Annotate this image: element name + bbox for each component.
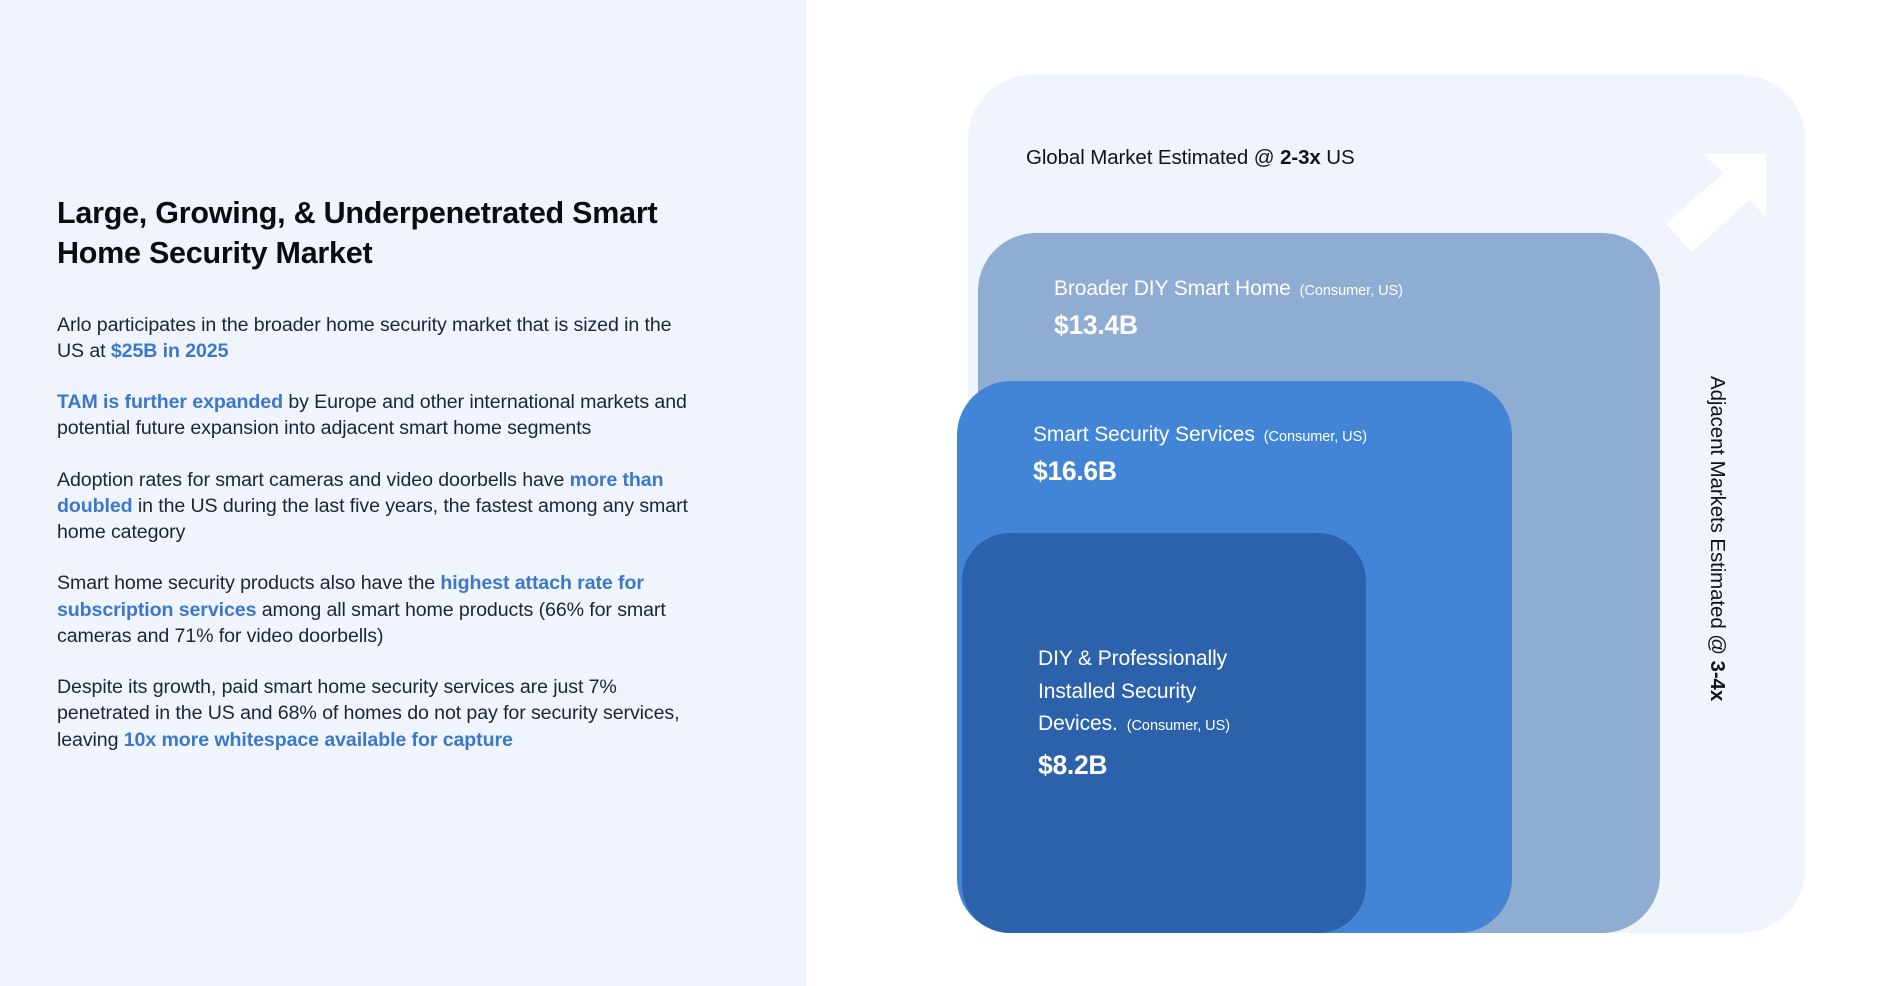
highlight-market-size-1: $25B in 2025 bbox=[111, 340, 229, 362]
tier-broader-name: Broader DIY Smart Home bbox=[1054, 277, 1291, 300]
tier-devices-name-line-3: Devices. bbox=[1038, 712, 1118, 735]
highlight-whitespace-1: 10x more whitespace available for captur… bbox=[124, 729, 513, 751]
tier-broader-text-block: Broader DIY Smart Home(Consumer, US) $13… bbox=[1054, 277, 1403, 341]
global-market-suffix: US bbox=[1321, 146, 1355, 169]
tier-services-value: $16.6B bbox=[1033, 456, 1367, 487]
text-adoption-rates-0: Adoption rates for smart cameras and vid… bbox=[57, 469, 570, 491]
tier-devices-name-line-2: Installed Security bbox=[1038, 676, 1230, 709]
tier-services-text-block: Smart Security Services(Consumer, US) $1… bbox=[1033, 423, 1367, 487]
left-text-panel: Large, Growing, & Underpenetrated Smart … bbox=[0, 0, 806, 986]
adjacent-markets-emphasis: 3-4x bbox=[1706, 661, 1729, 702]
arrow-up-right-icon bbox=[1666, 148, 1772, 252]
tier-devices-header-row: Devices.(Consumer, US) bbox=[1038, 708, 1230, 741]
adjacent-markets-label: Adjacent Markets Estimated @ 3-4x bbox=[1705, 376, 1729, 701]
slide-root: Large, Growing, & Underpenetrated Smart … bbox=[0, 0, 1882, 986]
tier-devices-text-block: DIY & Professionally Installed Security … bbox=[1038, 643, 1230, 781]
global-market-prefix: Global Market Estimated @ bbox=[1026, 146, 1280, 169]
tier-services-scope: (Consumer, US) bbox=[1264, 429, 1367, 445]
paragraph-market-size: Arlo participates in the broader home se… bbox=[57, 312, 697, 365]
paragraph-adoption-rates: Adoption rates for smart cameras and vid… bbox=[57, 467, 697, 546]
paragraph-whitespace: Despite its growth, paid smart home secu… bbox=[57, 674, 697, 753]
tier-services-header-row: Smart Security Services(Consumer, US) bbox=[1033, 423, 1367, 447]
tier-devices-scope: (Consumer, US) bbox=[1127, 718, 1230, 734]
text-adoption-rates-2: in the US during the last five years, th… bbox=[57, 495, 688, 543]
adjacent-markets-prefix: Adjacent Markets Estimated @ bbox=[1706, 376, 1729, 661]
tier-services-name: Smart Security Services bbox=[1033, 423, 1255, 446]
paragraph-attach-rate: Smart home security products also have t… bbox=[57, 570, 697, 649]
tier-broader-header-row: Broader DIY Smart Home(Consumer, US) bbox=[1054, 277, 1403, 301]
global-market-emphasis: 2-3x bbox=[1280, 146, 1321, 169]
tier-devices-name-line-1: DIY & Professionally bbox=[1038, 643, 1230, 676]
tier-broader-value: $13.4B bbox=[1054, 310, 1403, 341]
global-market-label: Global Market Estimated @ 2-3x US bbox=[1026, 146, 1355, 170]
paragraph-tam-expansion: TAM is further expanded by Europe and ot… bbox=[57, 389, 697, 442]
tier-broader-scope: (Consumer, US) bbox=[1300, 283, 1403, 299]
highlight-tam-expansion-0: TAM is further expanded bbox=[57, 391, 283, 413]
tier-devices-value: $8.2B bbox=[1038, 750, 1230, 781]
tier-diy-professionally-installed-security-devices: DIY & Professionally Installed Security … bbox=[962, 533, 1366, 933]
page-title: Large, Growing, & Underpenetrated Smart … bbox=[57, 193, 697, 274]
left-content-column: Large, Growing, & Underpenetrated Smart … bbox=[57, 193, 697, 753]
text-attach-rate-0: Smart home security products also have t… bbox=[57, 572, 440, 594]
market-size-diagram: Global Market Estimated @ 2-3x US Broade… bbox=[806, 0, 1882, 986]
